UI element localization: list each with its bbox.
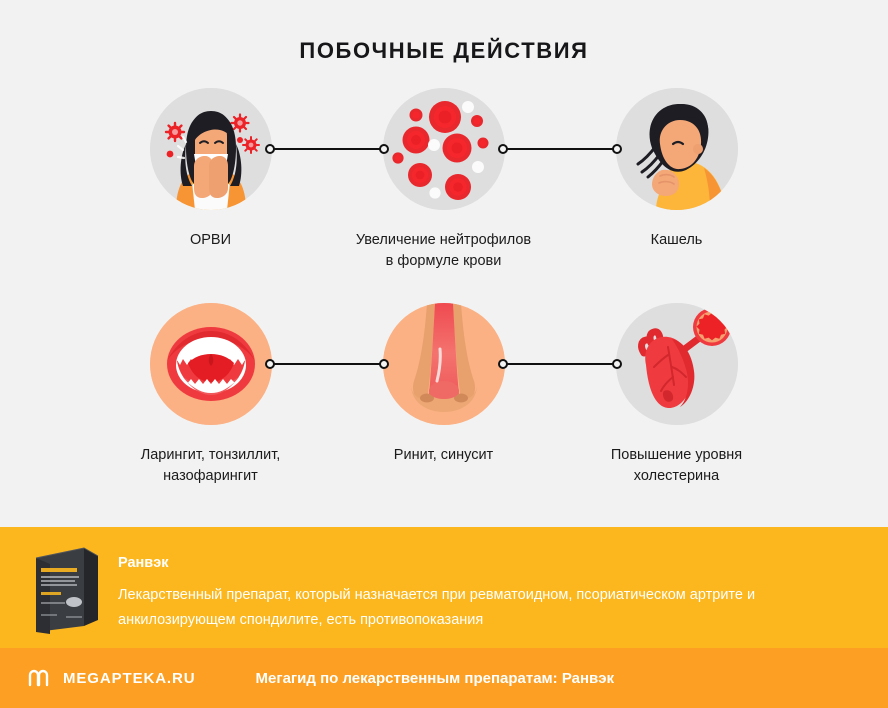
- promo-text-block: Ранвэк Лекарственный препарат, который н…: [118, 555, 863, 633]
- medicine-box-icon: [28, 544, 104, 634]
- sneezing-woman-icon: [150, 88, 272, 210]
- node-neutrophils[interactable]: Увеличение нейтрофилов в формуле крови: [327, 88, 560, 272]
- promo-description: Лекарственный препарат, который назначае…: [118, 583, 863, 633]
- node-laryngitis[interactable]: Ларингит, тонзиллит, назофарингит: [94, 303, 327, 487]
- node-label: Увеличение нейтрофилов в формуле крови: [327, 230, 560, 272]
- promo-banner: Ранвэк Лекарственный препарат, который н…: [0, 527, 888, 648]
- heart-cholesterol-icon: [616, 303, 738, 425]
- connector-dot-icon: [379, 144, 389, 154]
- coughing-person-icon: [616, 88, 738, 210]
- megapteka-logo[interactable]: MEGAPTEKA.RU: [26, 665, 195, 691]
- site-footer: MEGAPTEKA.RU Мегагид по лекарственным пр…: [0, 648, 888, 708]
- connector-dot-icon: [498, 359, 508, 369]
- connector-dot-icon: [612, 144, 622, 154]
- connector-dot-icon: [265, 144, 275, 154]
- connector-dot-icon: [498, 144, 508, 154]
- blood-cells-icon: [383, 88, 505, 210]
- footer-tagline: Мегагид по лекарственным препаратам: Ран…: [255, 670, 614, 687]
- node-label: Ларингит, тонзиллит, назофарингит: [94, 445, 327, 487]
- node-label: Повышение уровня холестерина: [560, 445, 793, 487]
- node-label: Ринит, синусит: [327, 445, 560, 466]
- node-label: Кашель: [560, 230, 793, 251]
- open-mouth-throat-icon: [150, 303, 272, 425]
- node-orvi[interactable]: ОРВИ: [94, 88, 327, 251]
- side-effects-diagram: ОРВИ: [0, 88, 888, 513]
- node-rhinitis[interactable]: Ринит, синусит: [327, 303, 560, 466]
- megapteka-logo-text: MEGAPTEKA.RU: [63, 670, 195, 687]
- inflamed-nose-icon: [383, 303, 505, 425]
- connector-dot-icon: [265, 359, 275, 369]
- node-label: ОРВИ: [94, 230, 327, 251]
- diagram-row-2: Ларингит, тонзиллит, назофарингит: [0, 303, 888, 503]
- promo-product-name: Ранвэк: [118, 555, 863, 571]
- connector-dot-icon: [612, 359, 622, 369]
- megapteka-m-logo-icon: [26, 665, 52, 691]
- page-title: ПОБОЧНЫЕ ДЕЙСТВИЯ: [0, 38, 888, 64]
- node-cough[interactable]: Кашель: [560, 88, 793, 251]
- diagram-row-1: ОРВИ: [0, 88, 888, 288]
- connector-dot-icon: [379, 359, 389, 369]
- node-cholesterol[interactable]: Повышение уровня холестерина: [560, 303, 793, 487]
